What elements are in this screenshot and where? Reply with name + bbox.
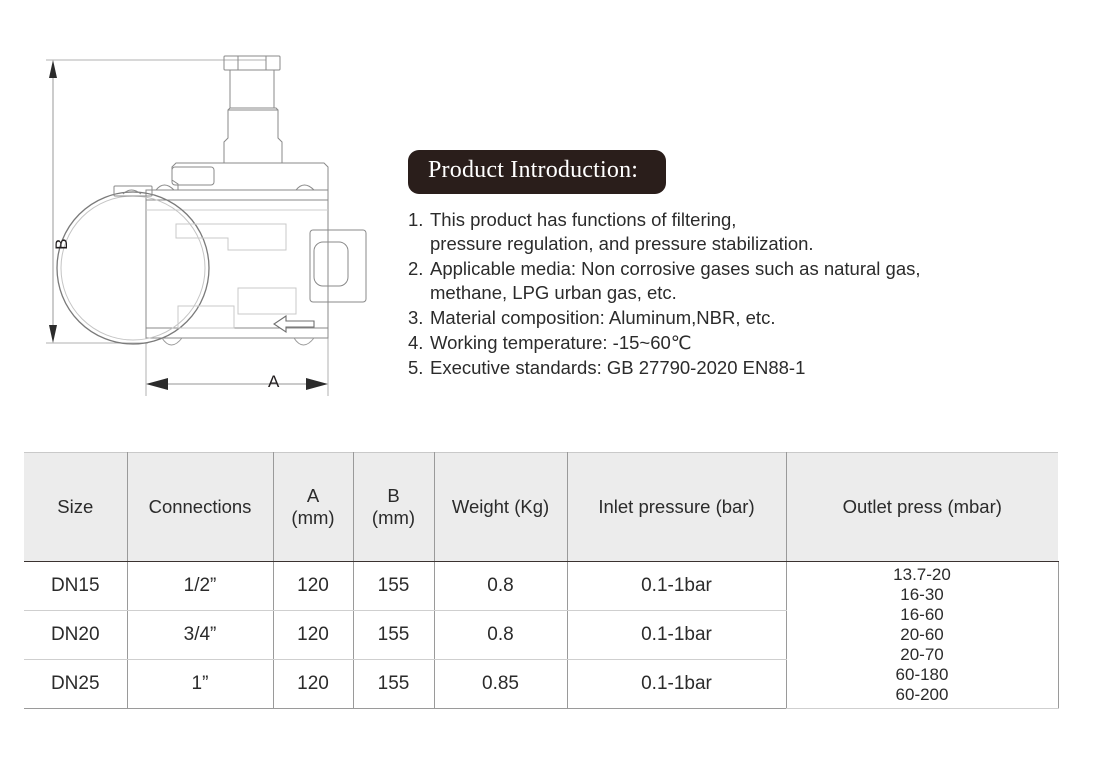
flow-direction-arrow-left	[274, 316, 314, 332]
intro-item-number: 2.	[408, 257, 423, 281]
intro-item-number: 1.	[408, 208, 423, 232]
column-header-weight: Weight (Kg)	[434, 453, 567, 562]
outlet-value: 60-180	[791, 665, 1054, 685]
cell-weight: 0.8	[434, 562, 567, 611]
cell-a: 120	[273, 660, 353, 709]
cell-size: DN25	[24, 660, 127, 709]
outlet-value: 20-60	[791, 625, 1054, 645]
cell-size: DN15	[24, 562, 127, 611]
outlet-value: 16-30	[791, 585, 1054, 605]
intro-item-number: 3.	[408, 306, 423, 330]
table-header-row: Size Connections A (mm) B (mm) Weight (K…	[24, 453, 1058, 562]
cell-inlet-pressure: 0.1-1bar	[567, 660, 786, 709]
dimension-line-b	[49, 60, 57, 343]
outlet-boss	[310, 230, 366, 302]
dimension-line-a	[146, 378, 328, 390]
cell-connections: 1/2”	[127, 562, 273, 611]
regulator-line-drawing	[28, 38, 398, 398]
bottom-flange-feet	[162, 338, 314, 345]
column-header-b: B (mm)	[353, 453, 434, 562]
intro-item-line1: Working temperature: -15~60℃	[430, 332, 692, 353]
body-top-shoulder	[146, 163, 328, 200]
column-header-a: A (mm)	[273, 453, 353, 562]
cell-outlet-pressure-merged: 13.7-20 16-30 16-60 20-60 20-70 60-180 6…	[786, 562, 1058, 709]
cell-a: 120	[273, 562, 353, 611]
cell-b: 155	[353, 660, 434, 709]
column-header-b-line2: (mm)	[372, 507, 415, 528]
specification-table-container: Size Connections A (mm) B (mm) Weight (K…	[24, 452, 1058, 709]
cell-b: 155	[353, 611, 434, 660]
column-header-size: Size	[24, 453, 127, 562]
column-header-inlet-pressure: Inlet pressure (bar)	[567, 453, 786, 562]
product-technical-drawing: B A	[28, 38, 398, 398]
outlet-value: 16-60	[791, 605, 1054, 625]
cell-inlet-pressure: 0.1-1bar	[567, 562, 786, 611]
cell-a: 120	[273, 611, 353, 660]
intro-item-number: 4.	[408, 331, 423, 355]
outlet-value: 13.7-20	[791, 565, 1054, 585]
cell-connections: 3/4”	[127, 611, 273, 660]
product-introduction-title: Product Introduction:	[408, 150, 666, 194]
intro-item: 3. Material composition: Aluminum,NBR, e…	[408, 306, 1068, 330]
cell-connections: 1”	[127, 660, 273, 709]
cell-inlet-pressure: 0.1-1bar	[567, 611, 786, 660]
cell-b: 155	[353, 562, 434, 611]
intro-item: 2. Applicable media: Non corrosive gases…	[408, 257, 1068, 305]
dimension-label-b: B	[52, 238, 72, 250]
intro-item: 4. Working temperature: -15~60℃	[408, 331, 1068, 355]
product-introduction-section: Product Introduction: 1. This product ha…	[408, 150, 1068, 381]
column-header-outlet-pressure: Outlet press (mbar)	[786, 453, 1058, 562]
outlet-value: 20-70	[791, 645, 1054, 665]
column-header-a-line1: A	[307, 485, 319, 506]
intro-item-line2: methane, LPG urban gas, etc.	[430, 281, 1068, 305]
dimension-label-a: A	[268, 372, 280, 392]
intro-item-line1: This product has functions of filtering,	[430, 209, 736, 230]
adjusting-screw-cap	[224, 56, 280, 108]
flange-bolts-top	[156, 185, 314, 190]
specification-table: Size Connections A (mm) B (mm) Weight (K…	[24, 452, 1059, 709]
cell-weight: 0.85	[434, 660, 567, 709]
cell-size: DN20	[24, 611, 127, 660]
product-introduction-list: 1. This product has functions of filteri…	[408, 208, 1068, 380]
intro-item-line1: Applicable media: Non corrosive gases su…	[430, 258, 921, 279]
intro-item-line2: pressure regulation, and pressure stabil…	[430, 232, 1068, 256]
column-header-b-line1: B	[387, 485, 399, 506]
table-row: DN15 1/2” 120 155 0.8 0.1-1bar 13.7-20 1…	[24, 562, 1058, 611]
column-header-connections: Connections	[127, 453, 273, 562]
regulator-body	[146, 200, 328, 338]
outlet-value: 60-200	[791, 685, 1054, 705]
intro-item-line1: Executive standards: GB 27790-2020 EN88-…	[430, 357, 805, 378]
intro-item-line1: Material composition: Aluminum,NBR, etc.	[430, 307, 775, 328]
intro-item: 1. This product has functions of filteri…	[408, 208, 1068, 256]
intro-item: 5. Executive standards: GB 27790-2020 EN…	[408, 356, 1068, 380]
column-header-a-line2: (mm)	[291, 507, 334, 528]
spring-bonnet	[224, 108, 282, 163]
cell-weight: 0.8	[434, 611, 567, 660]
intro-item-number: 5.	[408, 356, 423, 380]
